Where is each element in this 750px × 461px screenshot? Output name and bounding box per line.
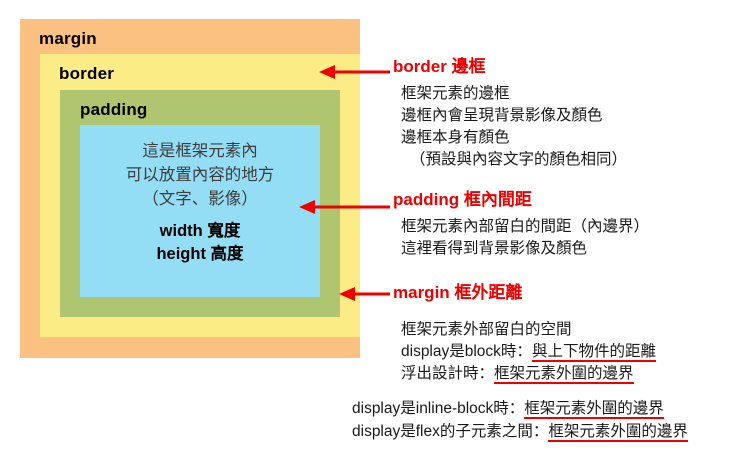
note-line-prefix: display是inline-block時： xyxy=(352,400,524,417)
note-line-underlined: 框架元素外圍的邊界 xyxy=(524,400,664,419)
content-line: 可以放置內容的地方 xyxy=(80,163,320,187)
note-padding-title: padding 框內間距 xyxy=(393,190,649,210)
content-height-label: height 高度 xyxy=(80,243,320,266)
note-padding: padding 框內間距 框架元素內部留白的間距（內邊界） 這裡看得到背景影像及… xyxy=(393,190,649,260)
note-line-text: 框架元素外部留白的空間 xyxy=(401,321,572,338)
note-line-underlined: 框架元素外圍的邊界 xyxy=(548,423,688,442)
padding-arrow-left-icon xyxy=(296,198,391,216)
note-line-prefix: 浮出設計時： xyxy=(401,365,494,382)
note-line: 浮出設計時：框架元素外圍的邊界 xyxy=(401,363,656,385)
bottom-notes-list: display是inline-block時：框架元素外圍的邊界 display是… xyxy=(352,397,688,443)
content-width-label: width 寬度 xyxy=(80,220,320,243)
note-line: 這裡看得到背景影像及顏色 xyxy=(401,238,649,260)
note-margin-list: 框架元素外部留白的空間 display是block時：與上下物件的距離 浮出設計… xyxy=(393,309,656,385)
note-line: 框架元素外部留白的空間 xyxy=(401,319,656,341)
note-border-title: border 邊框 xyxy=(393,57,627,77)
content-layer: 這是框架元素內 可以放置內容的地方 （文字、影像） width 寬度 heigh… xyxy=(80,125,320,297)
bottom-notes: display是inline-block時：框架元素外圍的邊界 display是… xyxy=(352,397,688,443)
note-line: 邊框內會呈現背景影像及顏色 xyxy=(401,105,627,127)
margin-layer-label: margin xyxy=(39,30,97,47)
note-line-prefix: display是block時： xyxy=(401,343,532,360)
border-arrow-left-icon xyxy=(316,63,391,81)
note-line-underlined: 框架元素外圍的邊界 xyxy=(494,365,634,384)
note-border-list: 框架元素的邊框 邊框內會呈現背景影像及顏色 邊框本身有顏色 （預設與內容文字的顏… xyxy=(393,83,627,171)
note-padding-list: 框架元素內部留白的間距（內邊界） 這裡看得到背景影像及顏色 xyxy=(393,216,649,260)
note-line: 框架元素內部留白的間距（內邊界） xyxy=(401,216,649,238)
border-layer: border padding 這是框架元素內 可以放置內容的地方 （文字、影像）… xyxy=(40,54,360,337)
box-model-diagram: margin border padding 這是框架元素內 可以放置內容的地方 … xyxy=(20,19,360,358)
note-line: 框架元素的邊框 xyxy=(401,83,627,105)
margin-layer: margin border padding 這是框架元素內 可以放置內容的地方 … xyxy=(20,19,360,358)
content-text-block: 這是框架元素內 可以放置內容的地方 （文字、影像） width 寬度 heigh… xyxy=(80,125,320,266)
content-line: （文字、影像） xyxy=(80,187,320,211)
note-line-prefix: display是flex的子元素之間： xyxy=(352,423,548,440)
border-layer-label: border xyxy=(59,65,114,82)
note-margin: margin 框外距離 框架元素外部留白的空間 display是block時：與… xyxy=(393,283,656,385)
note-margin-title: margin 框外距離 xyxy=(393,283,656,303)
note-line-underlined: 與上下物件的距離 xyxy=(532,343,656,362)
note-line: 邊框本身有顏色 xyxy=(401,127,627,149)
content-line: 這是框架元素內 xyxy=(80,139,320,163)
margin-arrow-left-icon xyxy=(336,285,391,303)
note-line: display是inline-block時：框架元素外圍的邊界 xyxy=(352,397,688,420)
padding-layer-label: padding xyxy=(80,101,148,118)
note-border: border 邊框 框架元素的邊框 邊框內會呈現背景影像及顏色 邊框本身有顏色 … xyxy=(393,57,627,171)
note-line: display是block時：與上下物件的距離 xyxy=(401,341,656,363)
note-line: （預設與內容文字的顏色相同） xyxy=(401,149,627,171)
note-line: display是flex的子元素之間：框架元素外圍的邊界 xyxy=(352,420,688,443)
